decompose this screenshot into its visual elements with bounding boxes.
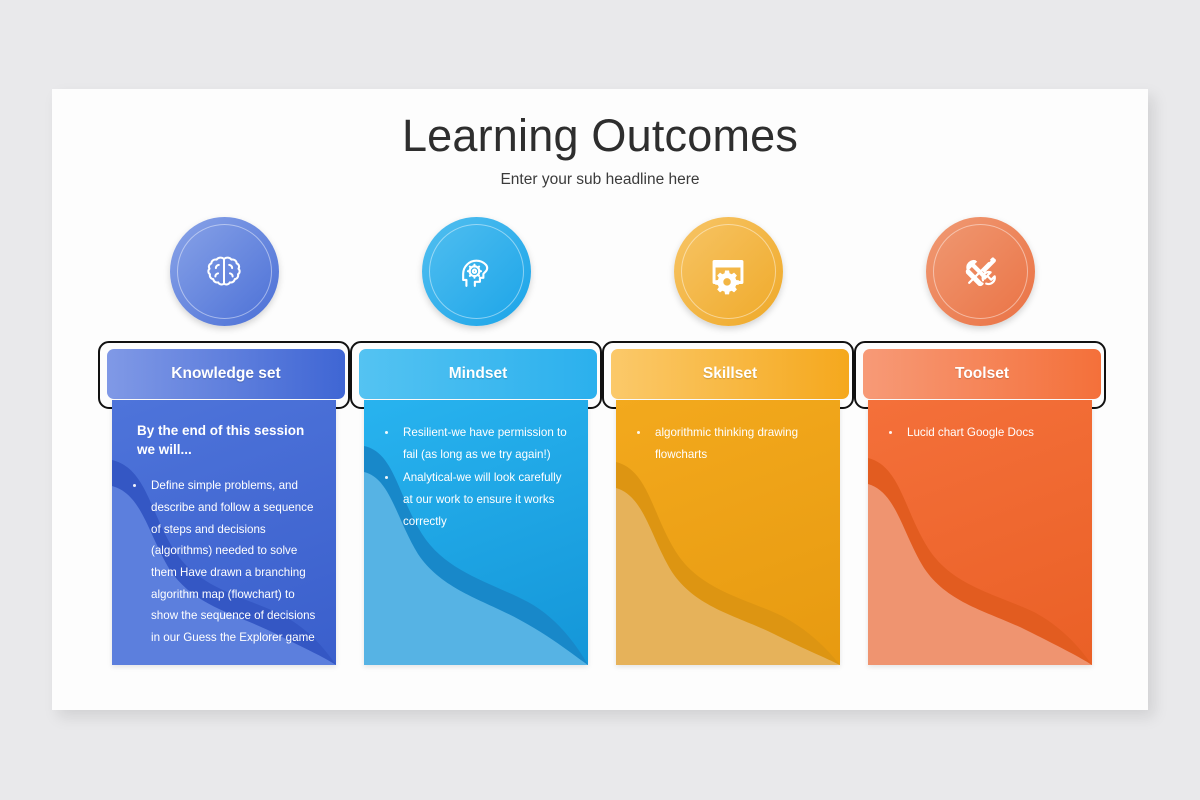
tab-toolset[interactable]: Toolset (863, 349, 1101, 399)
panel-mindset: Resilient-we have permission to fail (as… (364, 400, 588, 665)
tab-knowledge-set[interactable]: Knowledge set (107, 349, 345, 399)
tab-label: Mindset (449, 365, 508, 383)
bullet-list: algorithmic thinking drawing flowcharts (628, 422, 826, 465)
outcome-column-toolset[interactable]: Toolset Lucid chart Google Docs (854, 217, 1106, 665)
panel-content: algorithmic thinking drawing flowcharts (616, 400, 840, 465)
outcome-column-mindset[interactable]: Mindset Resilient-we have permission to … (350, 217, 602, 665)
list-item: algorithmic thinking drawing flowcharts (628, 422, 826, 465)
list-item: Lucid chart Google Docs (880, 422, 1078, 444)
outcome-column-knowledge-set[interactable]: Knowledge set By the end of this session… (98, 217, 350, 665)
slide-card: Learning Outcomes Enter your sub headlin… (52, 89, 1148, 710)
panel-skillset: algorithmic thinking drawing flowcharts (616, 400, 840, 665)
panel-toolset: Lucid chart Google Docs (868, 400, 1092, 665)
bullet-list: Resilient-we have permission to fail (as… (376, 422, 574, 532)
icon-badge-knowledge-set (170, 217, 279, 326)
bullet-list: Define simple problems, and describe and… (124, 475, 322, 648)
browser-gear-icon (705, 249, 751, 295)
list-item: Resilient-we have permission to fail (as… (376, 422, 574, 465)
tab-frame-toolset: Toolset (854, 341, 1106, 409)
list-item: Define simple problems, and describe and… (124, 475, 322, 648)
tab-label: Skillset (703, 365, 757, 383)
tab-frame-knowledge-set: Knowledge set (98, 341, 350, 409)
panel-heading: By the end of this session we will... (124, 422, 322, 459)
brain-icon (201, 249, 247, 295)
head-gear-icon (453, 249, 499, 295)
tab-frame-mindset: Mindset (350, 341, 602, 409)
outcome-columns: Knowledge set By the end of this session… (52, 89, 1148, 710)
tab-label: Toolset (955, 365, 1009, 383)
tools-icon (957, 249, 1003, 295)
panel-content: Resilient-we have permission to fail (as… (364, 400, 588, 532)
outcome-column-skillset[interactable]: Skillset algorithmic thinking drawing fl… (602, 217, 854, 665)
panel-knowledge-set: By the end of this session we will... De… (112, 400, 336, 665)
tab-label: Knowledge set (171, 365, 280, 383)
panel-content: Lucid chart Google Docs (868, 400, 1092, 444)
tab-frame-skillset: Skillset (602, 341, 854, 409)
panel-content: By the end of this session we will... De… (112, 400, 336, 649)
list-item: Analytical-we will look carefully at our… (376, 467, 574, 532)
icon-badge-mindset (422, 217, 531, 326)
icon-badge-skillset (674, 217, 783, 326)
tab-skillset[interactable]: Skillset (611, 349, 849, 399)
bullet-list: Lucid chart Google Docs (880, 422, 1078, 444)
icon-badge-toolset (926, 217, 1035, 326)
tab-mindset[interactable]: Mindset (359, 349, 597, 399)
